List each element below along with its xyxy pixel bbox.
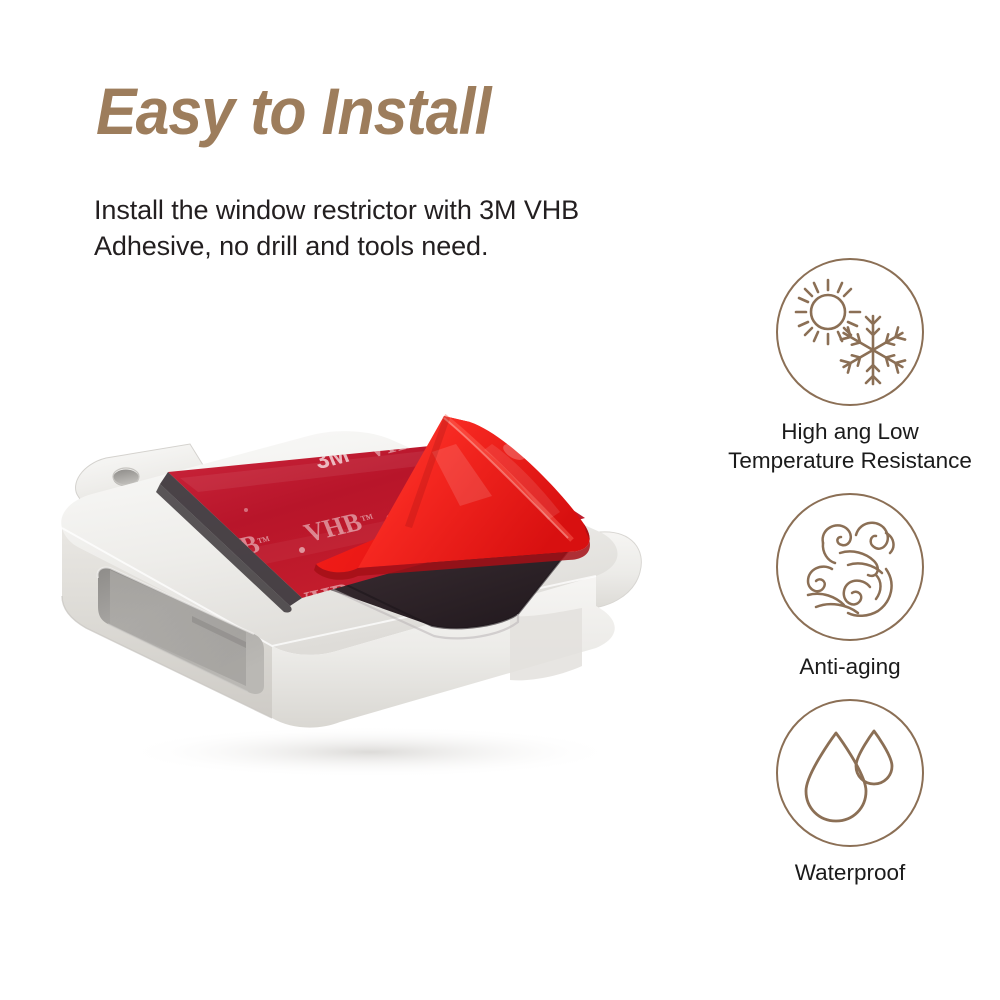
product-shadow [120, 726, 620, 778]
feature-circle-frame [776, 493, 924, 641]
subtitle-line-2: Adhesive, no drill and tools need. [94, 228, 734, 264]
product-feature-banner: Easy to Install Install the window restr… [0, 0, 1000, 1000]
page-title: Easy to Install [96, 78, 491, 144]
feature-circle-frame [776, 258, 924, 406]
feature-waterproof: Waterproof [700, 699, 1000, 887]
feature-label: Anti-aging [700, 652, 1000, 681]
subtitle-line-1: Install the window restrictor with 3M VH… [94, 192, 734, 228]
feature-temperature-resistance: High ang Low Temperature Resistance [700, 258, 1000, 475]
feature-label-line-1: High ang Low [700, 417, 1000, 446]
feature-circle-frame [776, 699, 924, 847]
product-image: 3M VHB ™ VHB ™ VHB ™ 3M 3M VHB ™ [40, 400, 660, 800]
water-droplets-icon [778, 701, 922, 845]
swirl-wind-icon [778, 495, 922, 639]
sun-and-snowflake-icon [778, 260, 922, 404]
feature-label: Waterproof [700, 858, 1000, 887]
subtitle-text: Install the window restrictor with 3M VH… [94, 192, 734, 264]
feature-anti-aging: Anti-aging [700, 493, 1000, 681]
feature-label-line-1: Waterproof [700, 858, 1000, 887]
feature-label-line-1: Anti-aging [700, 652, 1000, 681]
feature-label: High ang Low Temperature Resistance [700, 417, 1000, 475]
feature-label-line-2: Temperature Resistance [700, 446, 1000, 475]
feature-list: High ang Low Temperature Resistance [700, 258, 1000, 905]
